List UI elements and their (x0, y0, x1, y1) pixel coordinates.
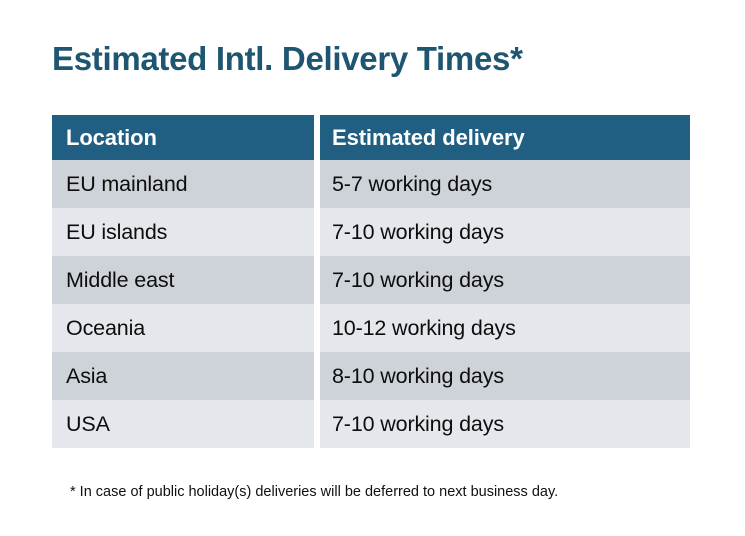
cell-delivery: 8-10 working days (320, 352, 690, 400)
table-header-row: Location Estimated delivery (52, 115, 690, 160)
delivery-times-table: Location Estimated delivery EU mainland … (52, 115, 690, 448)
cell-location: EU mainland (52, 160, 314, 208)
cell-location: Oceania (52, 304, 314, 352)
table-row: EU islands 7-10 working days (52, 208, 690, 256)
table-row: Oceania 10-12 working days (52, 304, 690, 352)
cell-delivery: 7-10 working days (320, 256, 690, 304)
cell-delivery: 7-10 working days (320, 400, 690, 448)
cell-delivery: 7-10 working days (320, 208, 690, 256)
footnote: * In case of public holiday(s) deliverie… (70, 482, 558, 502)
page-title: Estimated Intl. Delivery Times* (52, 38, 523, 80)
cell-delivery: 5-7 working days (320, 160, 690, 208)
table-row: Asia 8-10 working days (52, 352, 690, 400)
column-header-location: Location (52, 115, 314, 160)
column-header-estimated-delivery: Estimated delivery (320, 115, 690, 160)
table-row: EU mainland 5-7 working days (52, 160, 690, 208)
cell-location: Middle east (52, 256, 314, 304)
cell-location: USA (52, 400, 314, 448)
cell-location: Asia (52, 352, 314, 400)
cell-delivery: 10-12 working days (320, 304, 690, 352)
table-row: Middle east 7-10 working days (52, 256, 690, 304)
cell-location: EU islands (52, 208, 314, 256)
delivery-times-page: Estimated Intl. Delivery Times* Location… (0, 0, 745, 536)
table-row: USA 7-10 working days (52, 400, 690, 448)
